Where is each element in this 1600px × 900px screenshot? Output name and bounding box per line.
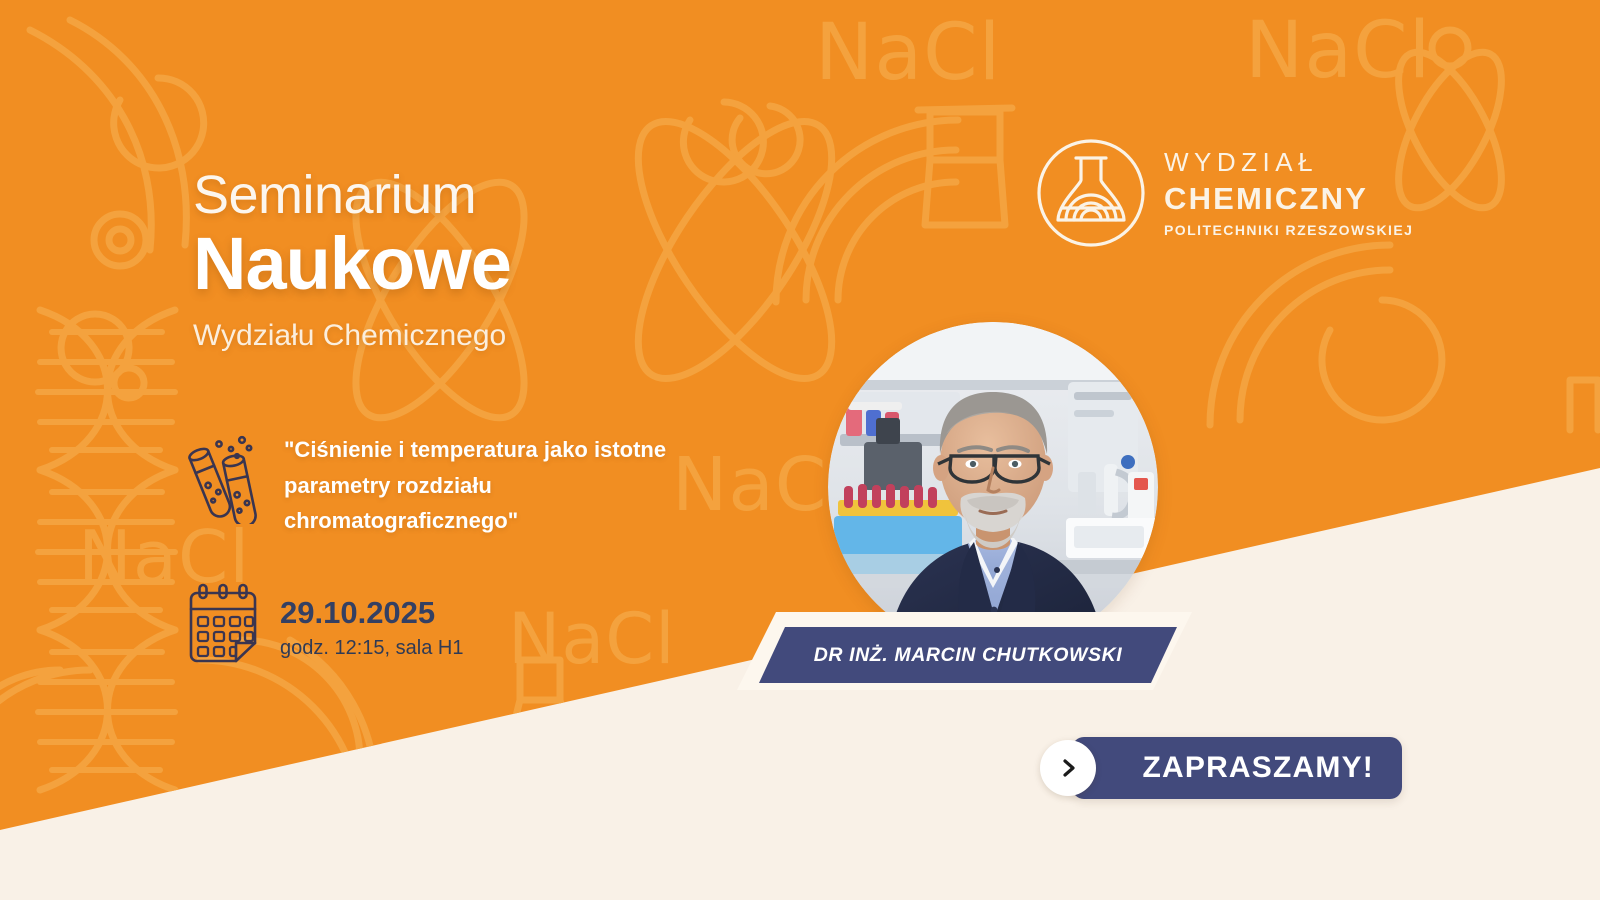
date-value: 29.10.2025 bbox=[280, 597, 463, 630]
logo-line-3: POLITECHNIKI RZESZOWSKIEJ bbox=[1164, 223, 1413, 237]
logo-line-2: CHEMICZNY bbox=[1164, 183, 1413, 214]
date-details: godz. 12:15, sala H1 bbox=[280, 637, 463, 660]
watermark-nacl: NaCl bbox=[1245, 6, 1431, 96]
speaker-name-banner: DR INŻ. MARCIN CHUTKOWSKI bbox=[737, 612, 1192, 690]
headline-line-1: Seminarium bbox=[193, 168, 833, 222]
banner-plate: DR INŻ. MARCIN CHUTKOWSKI bbox=[759, 627, 1177, 683]
watermark-nacl: NaCl bbox=[508, 598, 676, 680]
calendar-icon bbox=[184, 583, 266, 668]
faculty-logo-text: WYDZIAŁ CHEMICZNY POLITECHNIKI RZESZOWSK… bbox=[1164, 149, 1413, 237]
headline-subtitle: Wydziału Chemicznego bbox=[193, 319, 833, 353]
headline-line-2: Naukowe bbox=[193, 226, 833, 303]
topic-row: "Ciśnienie i temperatura jako istotne pa… bbox=[186, 432, 704, 539]
cta-label: ZAPRASZAMY! bbox=[1142, 751, 1374, 785]
date-row: 29.10.2025 godz. 12:15, sala H1 bbox=[184, 583, 463, 668]
chevron-right-icon[interactable] bbox=[1040, 740, 1096, 796]
speaker-name: DR INŻ. MARCIN CHUTKOWSKI bbox=[814, 644, 1123, 667]
speaker-portrait bbox=[828, 322, 1158, 652]
logo-line-1: WYDZIAŁ bbox=[1164, 149, 1413, 175]
topic-title: "Ciśnienie i temperatura jako istotne pa… bbox=[284, 432, 704, 539]
flask-circle-icon bbox=[1036, 138, 1146, 248]
faculty-logo: WYDZIAŁ CHEMICZNY POLITECHNIKI RZESZOWSK… bbox=[1036, 138, 1413, 248]
headline-block: Seminarium Naukowe Wydziału Chemicznego bbox=[193, 168, 833, 353]
cta-pill[interactable]: ZAPRASZAMY! bbox=[1072, 737, 1402, 799]
date-block: 29.10.2025 godz. 12:15, sala H1 bbox=[280, 583, 463, 660]
watermark-nacl: NaCl bbox=[815, 8, 1001, 98]
test-tubes-icon bbox=[186, 432, 268, 529]
seminar-poster: NaCl NaCl NaCl NaCl NaCl Seminarium Nauk… bbox=[0, 0, 1600, 900]
